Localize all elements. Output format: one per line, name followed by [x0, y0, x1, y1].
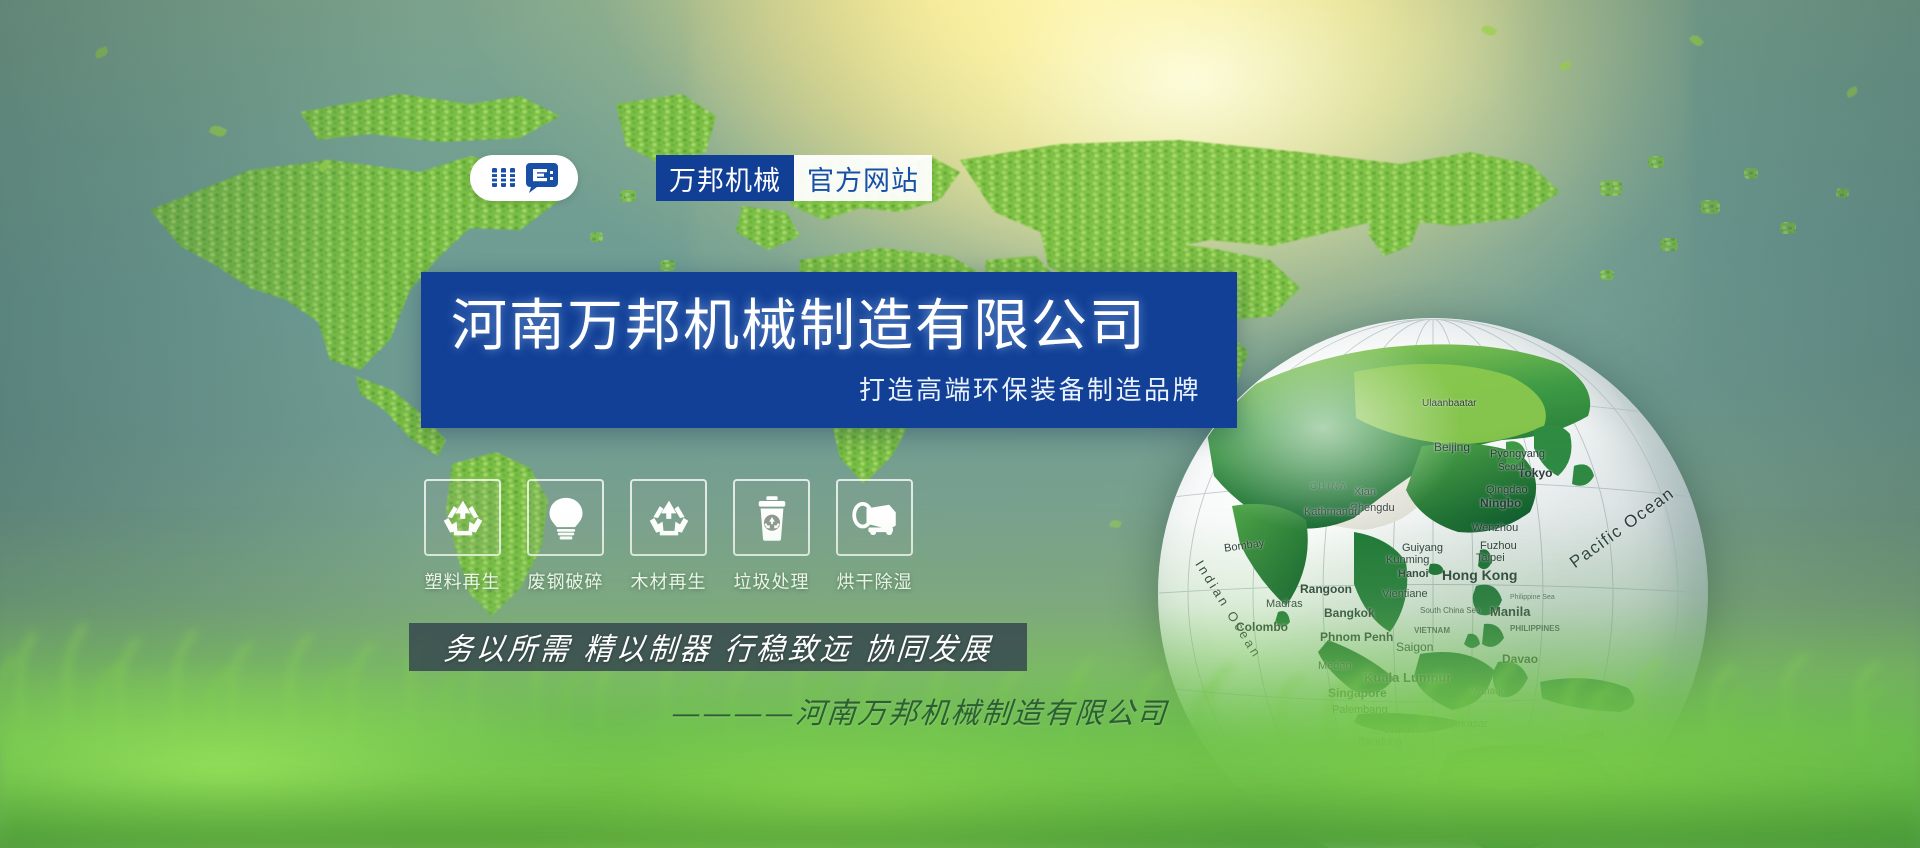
- hero-banner-page: Pacific Ocean Indian Ocean South China S…: [0, 0, 1920, 848]
- page-subtitle: 打造高端环保装备制造品牌: [451, 370, 1201, 407]
- site-logo-bar[interactable]: 万邦机械 官方网站: [470, 155, 932, 201]
- wanbang-logo-icon[interactable]: [470, 155, 578, 201]
- brand-name-label: 万邦机械: [656, 155, 794, 201]
- slogan-attribution: ————河南万邦机械制造有限公司: [638, 690, 1202, 732]
- logo-b-mark: [525, 162, 559, 194]
- slogan-text: 务以所需 精以制器 行稳致远 协同发展: [442, 625, 995, 669]
- logo-w-mark: [489, 164, 521, 192]
- grass-shadow: [0, 778, 1920, 848]
- official-site-label: 官方网站: [794, 155, 932, 201]
- logo-spacer: [578, 155, 656, 201]
- slogan-bar: 务以所需 精以制器 行稳致远 协同发展: [409, 623, 1027, 671]
- page-title: 河南万邦机械制造有限公司: [451, 297, 1201, 356]
- company-title-banner: 河南万邦机械制造有限公司 打造高端环保装备制造品牌: [421, 272, 1237, 428]
